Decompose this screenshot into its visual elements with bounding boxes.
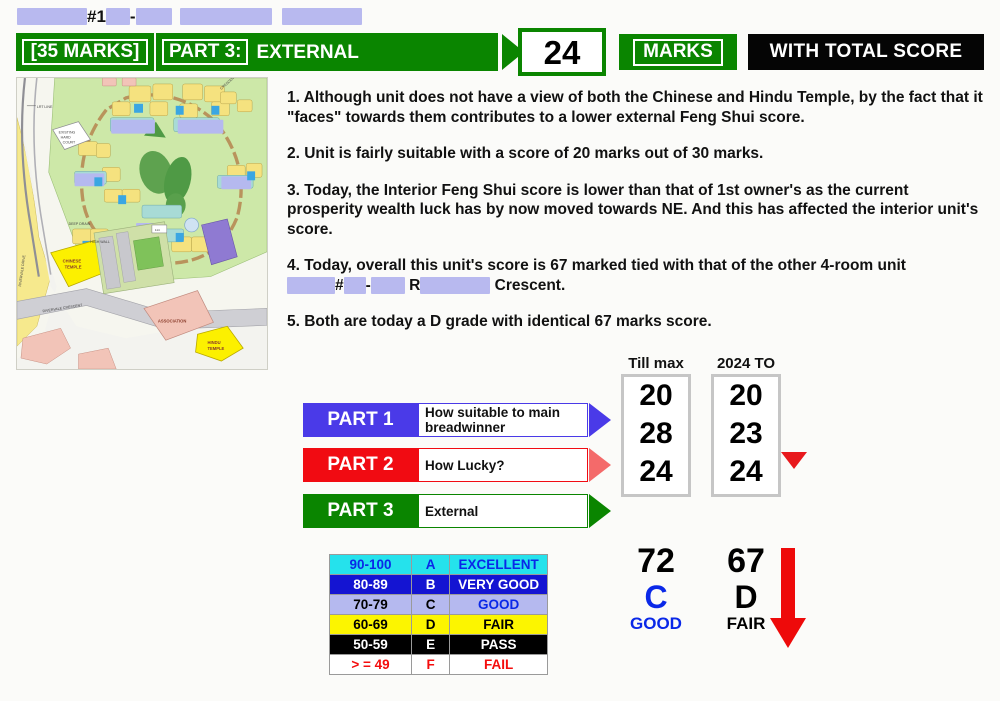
grade-c-range: 70-79 bbox=[330, 595, 412, 615]
grade-e-range: 50-59 bbox=[330, 635, 412, 655]
part-2-description: How Lucky? bbox=[418, 448, 588, 482]
grade-row-a: 90-100 A EXCELLENT bbox=[330, 555, 548, 575]
total-2023-word: GOOD bbox=[613, 614, 699, 634]
part-number-tag: PART 3: bbox=[162, 39, 248, 65]
map-label-high-wall: HIGH WALL bbox=[90, 240, 109, 244]
redacted-block-n4-c bbox=[371, 277, 405, 294]
grade-a-letter: A bbox=[412, 555, 450, 575]
part-3-tag: PART 3 bbox=[303, 494, 418, 528]
note-4-r: R bbox=[409, 277, 420, 294]
note-1: 1. Although unit does not have a view of… bbox=[287, 88, 987, 127]
grade-f-range: > = 49 bbox=[330, 655, 412, 675]
part-2-arrow-icon bbox=[589, 448, 611, 482]
grade-d-letter: D bbox=[412, 615, 450, 635]
part-row-2[interactable]: PART 2 How Lucky? bbox=[303, 448, 588, 482]
parts-scoring-block: Till max 2023 2024 TO 2043 PART 1 How su… bbox=[303, 355, 903, 535]
redacted-block-address bbox=[17, 8, 87, 25]
part-3-description: External bbox=[418, 494, 588, 528]
header-score-value: 24 bbox=[518, 28, 606, 76]
map-label-chinese-temple: CHINESE bbox=[63, 259, 82, 264]
grade-row-d: 60-69 D FAIR bbox=[330, 615, 548, 635]
redacted-block-unit-b bbox=[136, 8, 172, 25]
part-1-description: How suitable to main breadwinner bbox=[418, 403, 588, 437]
analysis-notes: 1. Although unit does not have a view of… bbox=[287, 88, 987, 332]
grade-b-range: 80-89 bbox=[330, 575, 412, 595]
map-label-lrt-line: LRT LINE bbox=[37, 105, 53, 109]
part-title-label: EXTERNAL bbox=[256, 43, 358, 62]
grade-e-word: PASS bbox=[450, 635, 548, 655]
part-row-3[interactable]: PART 3 External bbox=[303, 494, 588, 528]
grade-f-word: FAIL bbox=[450, 655, 548, 675]
map-label-association: ASSOCIATION bbox=[158, 318, 187, 323]
redacted-block-n4-d bbox=[420, 277, 490, 294]
part-row-1[interactable]: PART 1 How suitable to main breadwinner bbox=[303, 403, 588, 437]
note-4-hash: # bbox=[335, 277, 344, 294]
note-3: 3. Today, the Interior Feng Shui score i… bbox=[287, 181, 987, 240]
grade-row-c: 70-79 C GOOD bbox=[330, 595, 548, 615]
site-map-svg: CHINESE TEMPLE HINDU TEMPLE ASSOCIATION … bbox=[17, 78, 267, 369]
marks-word-label: MARKS bbox=[633, 39, 723, 66]
with-total-score-banner: WITH TOTAL SCORE bbox=[748, 34, 984, 70]
grade-c-word: GOOD bbox=[450, 595, 548, 615]
grade-d-word: FAIR bbox=[450, 615, 548, 635]
map-label-deep-drain: DEEP DRAIN bbox=[69, 222, 91, 226]
grade-c-letter: C bbox=[412, 595, 450, 615]
arrow-shaft bbox=[781, 548, 795, 620]
score-2043-part2: 23 bbox=[714, 415, 778, 453]
grade-f-letter: F bbox=[412, 655, 450, 675]
page-title: #1- bbox=[17, 6, 362, 27]
grade-d-range: 60-69 bbox=[330, 615, 412, 635]
grade-row-e: 50-59 E PASS bbox=[330, 635, 548, 655]
arrow-head bbox=[770, 618, 806, 648]
marks-word-badge: MARKS bbox=[619, 34, 737, 70]
map-label-block-114: 114 bbox=[155, 228, 160, 232]
part-title-band: PART 3: EXTERNAL bbox=[156, 33, 498, 71]
decline-triangle-icon bbox=[781, 452, 807, 469]
score-2043-part1: 20 bbox=[714, 377, 778, 415]
col-head-b-line1: 2024 TO bbox=[698, 355, 794, 372]
grade-legend-table: 90-100 A EXCELLENT 80-89 B VERY GOOD 70-… bbox=[329, 554, 548, 675]
part-1-tag: PART 1 bbox=[303, 403, 418, 437]
site-map-image: CHINESE TEMPLE HINDU TEMPLE ASSOCIATION … bbox=[16, 77, 268, 370]
title-dash: - bbox=[130, 7, 136, 27]
redacted-block-street bbox=[180, 8, 272, 25]
score-2023-part2: 28 bbox=[624, 415, 688, 453]
redacted-block-extra bbox=[282, 8, 362, 25]
grade-a-word: EXCELLENT bbox=[450, 555, 548, 575]
score-2023-part3: 24 bbox=[624, 453, 688, 491]
score-column-till-2023: 20 28 24 bbox=[621, 374, 691, 497]
part-2-tag: PART 2 bbox=[303, 448, 418, 482]
score-column-2024-2043: 20 23 24 bbox=[711, 374, 781, 497]
marks-allocation-label: [35 MARKS] bbox=[22, 39, 149, 65]
note-4-text: 4. Today, overall this unit's score is 6… bbox=[287, 257, 906, 274]
map-label-hindu-temple-2: TEMPLE bbox=[207, 346, 224, 351]
grade-b-letter: B bbox=[412, 575, 450, 595]
note-5: 5. Both are today a D grade with identic… bbox=[287, 312, 987, 332]
grade-b-word: VERY GOOD bbox=[450, 575, 548, 595]
map-label-hard-court-2: HARD bbox=[61, 136, 72, 140]
col-head-a-line1: Till max bbox=[608, 355, 704, 372]
map-label-hindu-temple: HINDU bbox=[207, 340, 220, 345]
note-4: 4. Today, overall this unit's score is 6… bbox=[287, 256, 987, 295]
note-2: 2. Unit is fairly suitable with a score … bbox=[287, 144, 987, 164]
note-4-tail: Crescent. bbox=[495, 277, 566, 294]
score-2043-part3: 24 bbox=[714, 453, 778, 491]
part-3-arrow-icon bbox=[589, 494, 611, 528]
redacted-block-unit-a bbox=[106, 8, 130, 25]
big-decline-arrow-icon bbox=[770, 548, 806, 648]
total-2023-grade: C bbox=[613, 580, 699, 614]
score-2023-part1: 20 bbox=[624, 377, 688, 415]
map-label-chinese-temple-2: TEMPLE bbox=[65, 265, 82, 270]
map-label-hard-court: EXISTING bbox=[59, 131, 76, 135]
grade-a-range: 90-100 bbox=[330, 555, 412, 575]
map-label-hard-court-3: COURT bbox=[63, 141, 76, 145]
part-1-arrow-icon bbox=[589, 403, 611, 437]
title-unit-number: #1 bbox=[87, 7, 106, 27]
total-till-2023: 72 C GOOD bbox=[613, 542, 699, 634]
redacted-block-n4-a bbox=[287, 277, 335, 294]
grade-row-b: 80-89 B VERY GOOD bbox=[330, 575, 548, 595]
total-2023-number: 72 bbox=[613, 542, 699, 580]
grade-row-f: > = 49 F FAIL bbox=[330, 655, 548, 675]
marks-allocation-badge: [35 MARKS] bbox=[16, 33, 154, 71]
grade-e-letter: E bbox=[412, 635, 450, 655]
redacted-block-n4-b bbox=[344, 277, 366, 294]
